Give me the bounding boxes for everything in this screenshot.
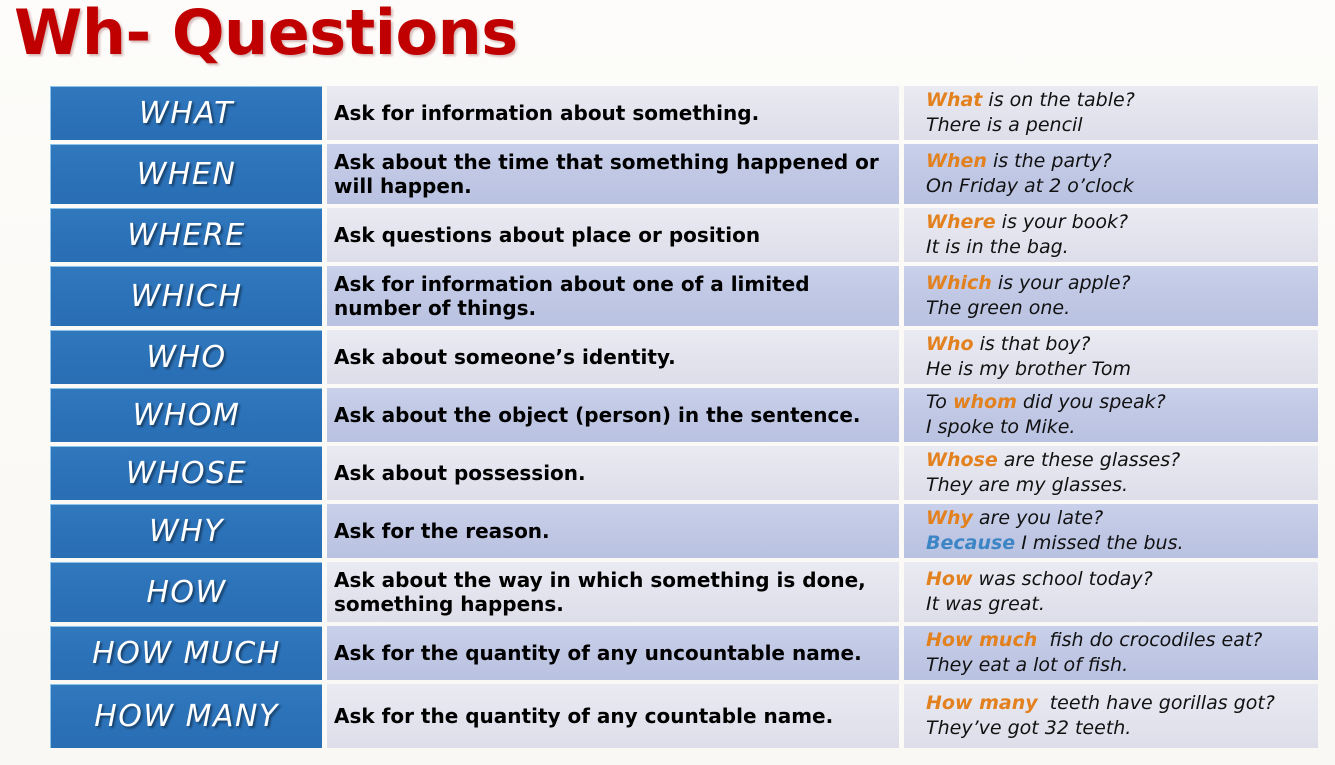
question-word-cell: WHOM <box>50 388 322 442</box>
example-question-keyword: When <box>926 150 987 172</box>
example-answer-text: They are my glasses. <box>926 474 1128 496</box>
wh-questions-table: WHATAsk for information about something.… <box>50 86 1318 748</box>
example-answer: Because I missed the bus. <box>926 531 1310 556</box>
example-answer: He is my brother Tom <box>926 357 1310 382</box>
description-cell: Ask about the time that something happen… <box>327 144 899 204</box>
description-cell: Ask about the way in which something is … <box>327 562 899 622</box>
example-question-rest: is the party? <box>987 150 1112 172</box>
example-question-keyword: Which <box>926 272 992 294</box>
example-question-rest: is on the table? <box>982 89 1134 111</box>
description-cell: Ask questions about place or position <box>327 208 899 262</box>
description-text: Ask about someone’s identity. <box>334 345 676 369</box>
example-question-rest: is your book? <box>996 211 1128 233</box>
example-cell: How many teeth have gorillas got?They’ve… <box>904 684 1318 748</box>
table-row: WHATAsk for information about something.… <box>50 86 1318 140</box>
question-word-cell: WHY <box>50 504 322 558</box>
question-word-label: WHOM <box>133 398 241 433</box>
question-word-cell: WHAT <box>50 86 322 140</box>
question-word-cell: HOW MANY <box>50 684 322 748</box>
table-row: HOW MANYAsk for the quantity of any coun… <box>50 684 1318 748</box>
question-word-cell: WHO <box>50 330 322 384</box>
example-cell: Whose are these glasses?They are my glas… <box>904 446 1318 500</box>
example-question-rest: was school today? <box>973 568 1153 590</box>
table-row: HOWAsk about the way in which something … <box>50 562 1318 622</box>
question-word-label: WHOSE <box>126 456 247 491</box>
example-question: Where is your book? <box>926 210 1310 235</box>
example-question-rest: is your apple? <box>992 272 1131 294</box>
description-text: Ask questions about place or position <box>334 223 760 247</box>
description-cell: Ask for information about something. <box>327 86 899 140</box>
question-word-label: WHEN <box>137 157 237 192</box>
description-cell: Ask about the object (person) in the sen… <box>327 388 899 442</box>
description-cell: Ask for the quantity of any countable na… <box>327 684 899 748</box>
page-title: Wh- Questions <box>14 0 518 72</box>
table-row: WHOSEAsk about possession.Whose are thes… <box>50 446 1318 500</box>
example-question-rest: are these glasses? <box>998 449 1181 471</box>
example-cell: How much fish do crocodiles eat?They eat… <box>904 626 1318 680</box>
slide-canvas: Wh- Questions WHATAsk for information ab… <box>0 0 1335 765</box>
example-answer: The green one. <box>926 296 1310 321</box>
example-question: What is on the table? <box>926 88 1310 113</box>
question-word-label: WHO <box>146 340 226 375</box>
description-cell: Ask about someone’s identity. <box>327 330 899 384</box>
example-answer-text: The green one. <box>926 297 1070 319</box>
example-answer: On Friday at 2 o’clock <box>926 174 1310 199</box>
question-word-label: HOW MANY <box>94 699 279 734</box>
example-question-keyword: whom <box>953 391 1017 413</box>
table-row: WHYAsk for the reason.Why are you late?B… <box>50 504 1318 558</box>
table-row: HOW MUCHAsk for the quantity of any unco… <box>50 626 1318 680</box>
example-question-keyword: How much <box>926 629 1037 651</box>
example-question-keyword: How <box>926 568 973 590</box>
example-question-rest: fish do crocodiles eat? <box>1037 629 1262 651</box>
question-word-cell: WHICH <box>50 266 322 326</box>
description-text: Ask about the object (person) in the sen… <box>334 403 860 427</box>
description-text: Ask for information about one of a limit… <box>334 272 891 321</box>
description-text: Ask about the time that something happen… <box>334 150 891 199</box>
example-cell: How was school today?It was great. <box>904 562 1318 622</box>
question-word-cell: HOW <box>50 562 322 622</box>
example-answer-text: There is a pencil <box>926 114 1083 136</box>
example-question-rest: are you late? <box>973 507 1103 529</box>
question-word-label: HOW <box>146 575 226 610</box>
example-answer-text: It is in the bag. <box>926 236 1069 258</box>
example-cell: When is the party?On Friday at 2 o’clock <box>904 144 1318 204</box>
example-question-keyword: Where <box>926 211 996 233</box>
example-question-keyword: How many <box>926 692 1038 714</box>
example-cell: Who is that boy?He is my brother Tom <box>904 330 1318 384</box>
description-text: Ask for the quantity of any uncountable … <box>334 641 862 665</box>
description-cell: Ask for information about one of a limit… <box>327 266 899 326</box>
example-answer: They eat a lot of fish. <box>926 653 1310 678</box>
example-question-keyword: Why <box>926 507 973 529</box>
example-question: How was school today? <box>926 567 1310 592</box>
example-question-keyword: What <box>926 89 982 111</box>
example-answer-keyword: Because <box>926 532 1015 554</box>
question-word-label: WHAT <box>139 96 234 131</box>
example-answer-text: It was great. <box>926 593 1045 615</box>
example-question-rest: is that boy? <box>974 333 1091 355</box>
description-text: Ask for information about something. <box>334 101 759 125</box>
question-word-label: WHY <box>149 514 224 549</box>
example-cell: Where is your book?It is in the bag. <box>904 208 1318 262</box>
example-question: To whom did you speak? <box>926 390 1310 415</box>
example-answer-text: On Friday at 2 o’clock <box>926 175 1134 197</box>
table-row: WHOMAsk about the object (person) in the… <box>50 388 1318 442</box>
example-answer: It was great. <box>926 592 1310 617</box>
example-question: Why are you late? <box>926 506 1310 531</box>
example-question: Who is that boy? <box>926 332 1310 357</box>
question-word-label: WHICH <box>130 279 242 314</box>
example-question-keyword: Who <box>926 333 974 355</box>
example-question: How many teeth have gorillas got? <box>926 691 1310 716</box>
example-question: Whose are these glasses? <box>926 448 1310 473</box>
description-cell: Ask about possession. <box>327 446 899 500</box>
question-word-label: WHERE <box>127 218 245 253</box>
table-row: WHENAsk about the time that something ha… <box>50 144 1318 204</box>
example-cell: Why are you late?Because I missed the bu… <box>904 504 1318 558</box>
question-word-cell: WHERE <box>50 208 322 262</box>
table-row: WHICHAsk for information about one of a … <box>50 266 1318 326</box>
example-cell: Which is your apple?The green one. <box>904 266 1318 326</box>
example-answer-text: I spoke to Mike. <box>926 416 1075 438</box>
example-answer: I spoke to Mike. <box>926 415 1310 440</box>
example-question: How much fish do crocodiles eat? <box>926 628 1310 653</box>
example-answer-text: He is my brother Tom <box>926 358 1131 380</box>
description-cell: Ask for the quantity of any uncountable … <box>327 626 899 680</box>
example-answer: They’ve got 32 teeth. <box>926 716 1310 741</box>
question-word-cell: WHOSE <box>50 446 322 500</box>
example-question: Which is your apple? <box>926 271 1310 296</box>
example-question-rest: did you speak? <box>1017 391 1166 413</box>
question-word-cell: WHEN <box>50 144 322 204</box>
description-cell: Ask for the reason. <box>327 504 899 558</box>
example-answer: There is a pencil <box>926 113 1310 138</box>
table-row: WHOAsk about someone’s identity.Who is t… <box>50 330 1318 384</box>
description-text: Ask for the reason. <box>334 519 550 543</box>
example-question: When is the party? <box>926 149 1310 174</box>
example-question-keyword: Whose <box>926 449 998 471</box>
table-row: WHEREAsk questions about place or positi… <box>50 208 1318 262</box>
example-answer-text: They’ve got 32 teeth. <box>926 717 1131 739</box>
question-word-cell: HOW MUCH <box>50 626 322 680</box>
question-word-label: HOW MUCH <box>92 636 281 671</box>
example-cell: To whom did you speak?I spoke to Mike. <box>904 388 1318 442</box>
example-answer: It is in the bag. <box>926 235 1310 260</box>
description-text: Ask about the way in which something is … <box>334 568 891 617</box>
example-answer-text: They eat a lot of fish. <box>926 654 1128 676</box>
description-text: Ask for the quantity of any countable na… <box>334 704 833 728</box>
example-question-rest: teeth have gorillas got? <box>1038 692 1275 714</box>
example-cell: What is on the table?There is a pencil <box>904 86 1318 140</box>
example-answer-text: I missed the bus. <box>1015 532 1183 554</box>
example-answer: They are my glasses. <box>926 473 1310 498</box>
description-text: Ask about possession. <box>334 461 586 485</box>
example-question-prefix: To <box>926 391 953 413</box>
